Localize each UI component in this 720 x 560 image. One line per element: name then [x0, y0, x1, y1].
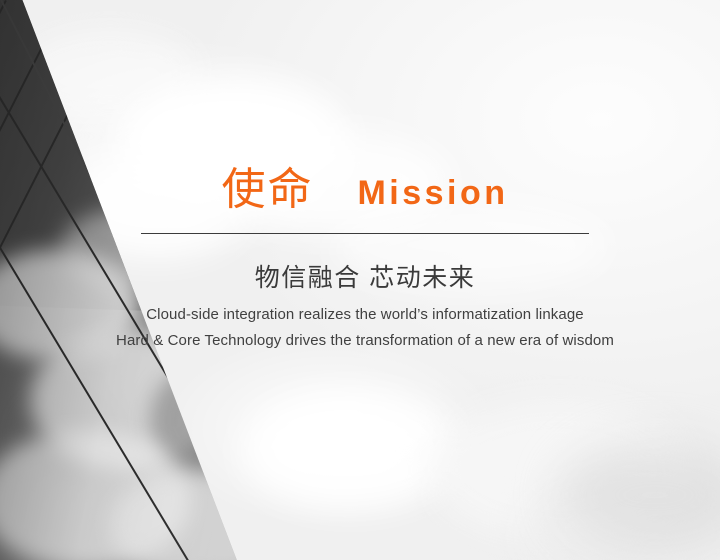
slogan-line-1: Cloud-side integration realizes the worl… — [61, 302, 669, 328]
title-english: Mission — [357, 176, 508, 210]
slogan-line-2: Hard & Core Technology drives the transf… — [61, 328, 669, 354]
banner-content: 使命 Mission 物信融合 芯动未来 Cloud-side integrat… — [0, 0, 720, 560]
banner-heading: 使命 Mission — [141, 168, 589, 212]
heading-divider — [141, 233, 589, 234]
title-chinese: 使命 — [221, 168, 313, 212]
subtitle-chinese: 物信融合 芯动未来 — [141, 258, 589, 294]
slogan-block: Cloud-side integration realizes the worl… — [61, 302, 669, 354]
mission-banner: 使命 Mission 物信融合 芯动未来 Cloud-side integrat… — [0, 0, 720, 560]
